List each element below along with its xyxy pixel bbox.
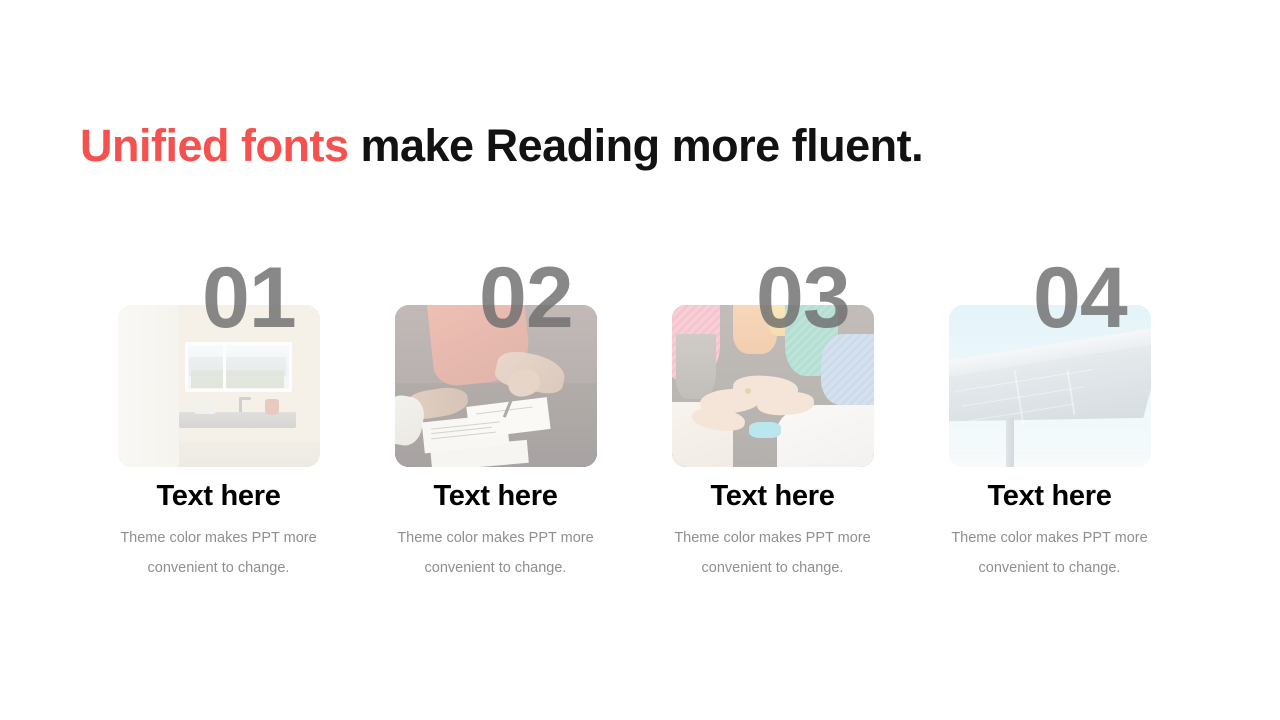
page-title-accent: Unified fonts	[80, 120, 348, 171]
card-03[interactable]: 03 Text here Theme color makes PPT more …	[634, 255, 911, 585]
card-01[interactable]: 01 Text here Theme color makes PPT more …	[80, 255, 357, 585]
card-02-number: 02	[479, 255, 573, 341]
card-01-body: Theme color makes PPT more convenient to…	[91, 523, 346, 583]
page-title: Unified fonts make Reading more fluent.	[80, 118, 923, 174]
cards-row: 01 Text here Theme color makes PPT more …	[80, 255, 1200, 585]
card-03-heading: Text here	[634, 480, 911, 513]
card-03-body: Theme color makes PPT more convenient to…	[645, 523, 900, 583]
card-01-heading: Text here	[80, 480, 357, 513]
card-04-heading: Text here	[911, 480, 1188, 513]
presentation-slide: Unified fonts make Reading more fluent.	[0, 0, 1280, 720]
page-title-plain: make Reading more fluent.	[348, 120, 923, 171]
card-04-number: 04	[1033, 255, 1127, 341]
card-04-body: Theme color makes PPT more convenient to…	[922, 523, 1177, 583]
card-01-number: 01	[202, 255, 296, 341]
card-02-body: Theme color makes PPT more convenient to…	[368, 523, 623, 583]
card-03-number: 03	[756, 255, 850, 341]
card-02[interactable]: 02 Text here Theme color makes PPT more …	[357, 255, 634, 585]
card-04[interactable]: 04 Text here Theme color makes PPT more …	[911, 255, 1188, 585]
card-02-heading: Text here	[357, 480, 634, 513]
